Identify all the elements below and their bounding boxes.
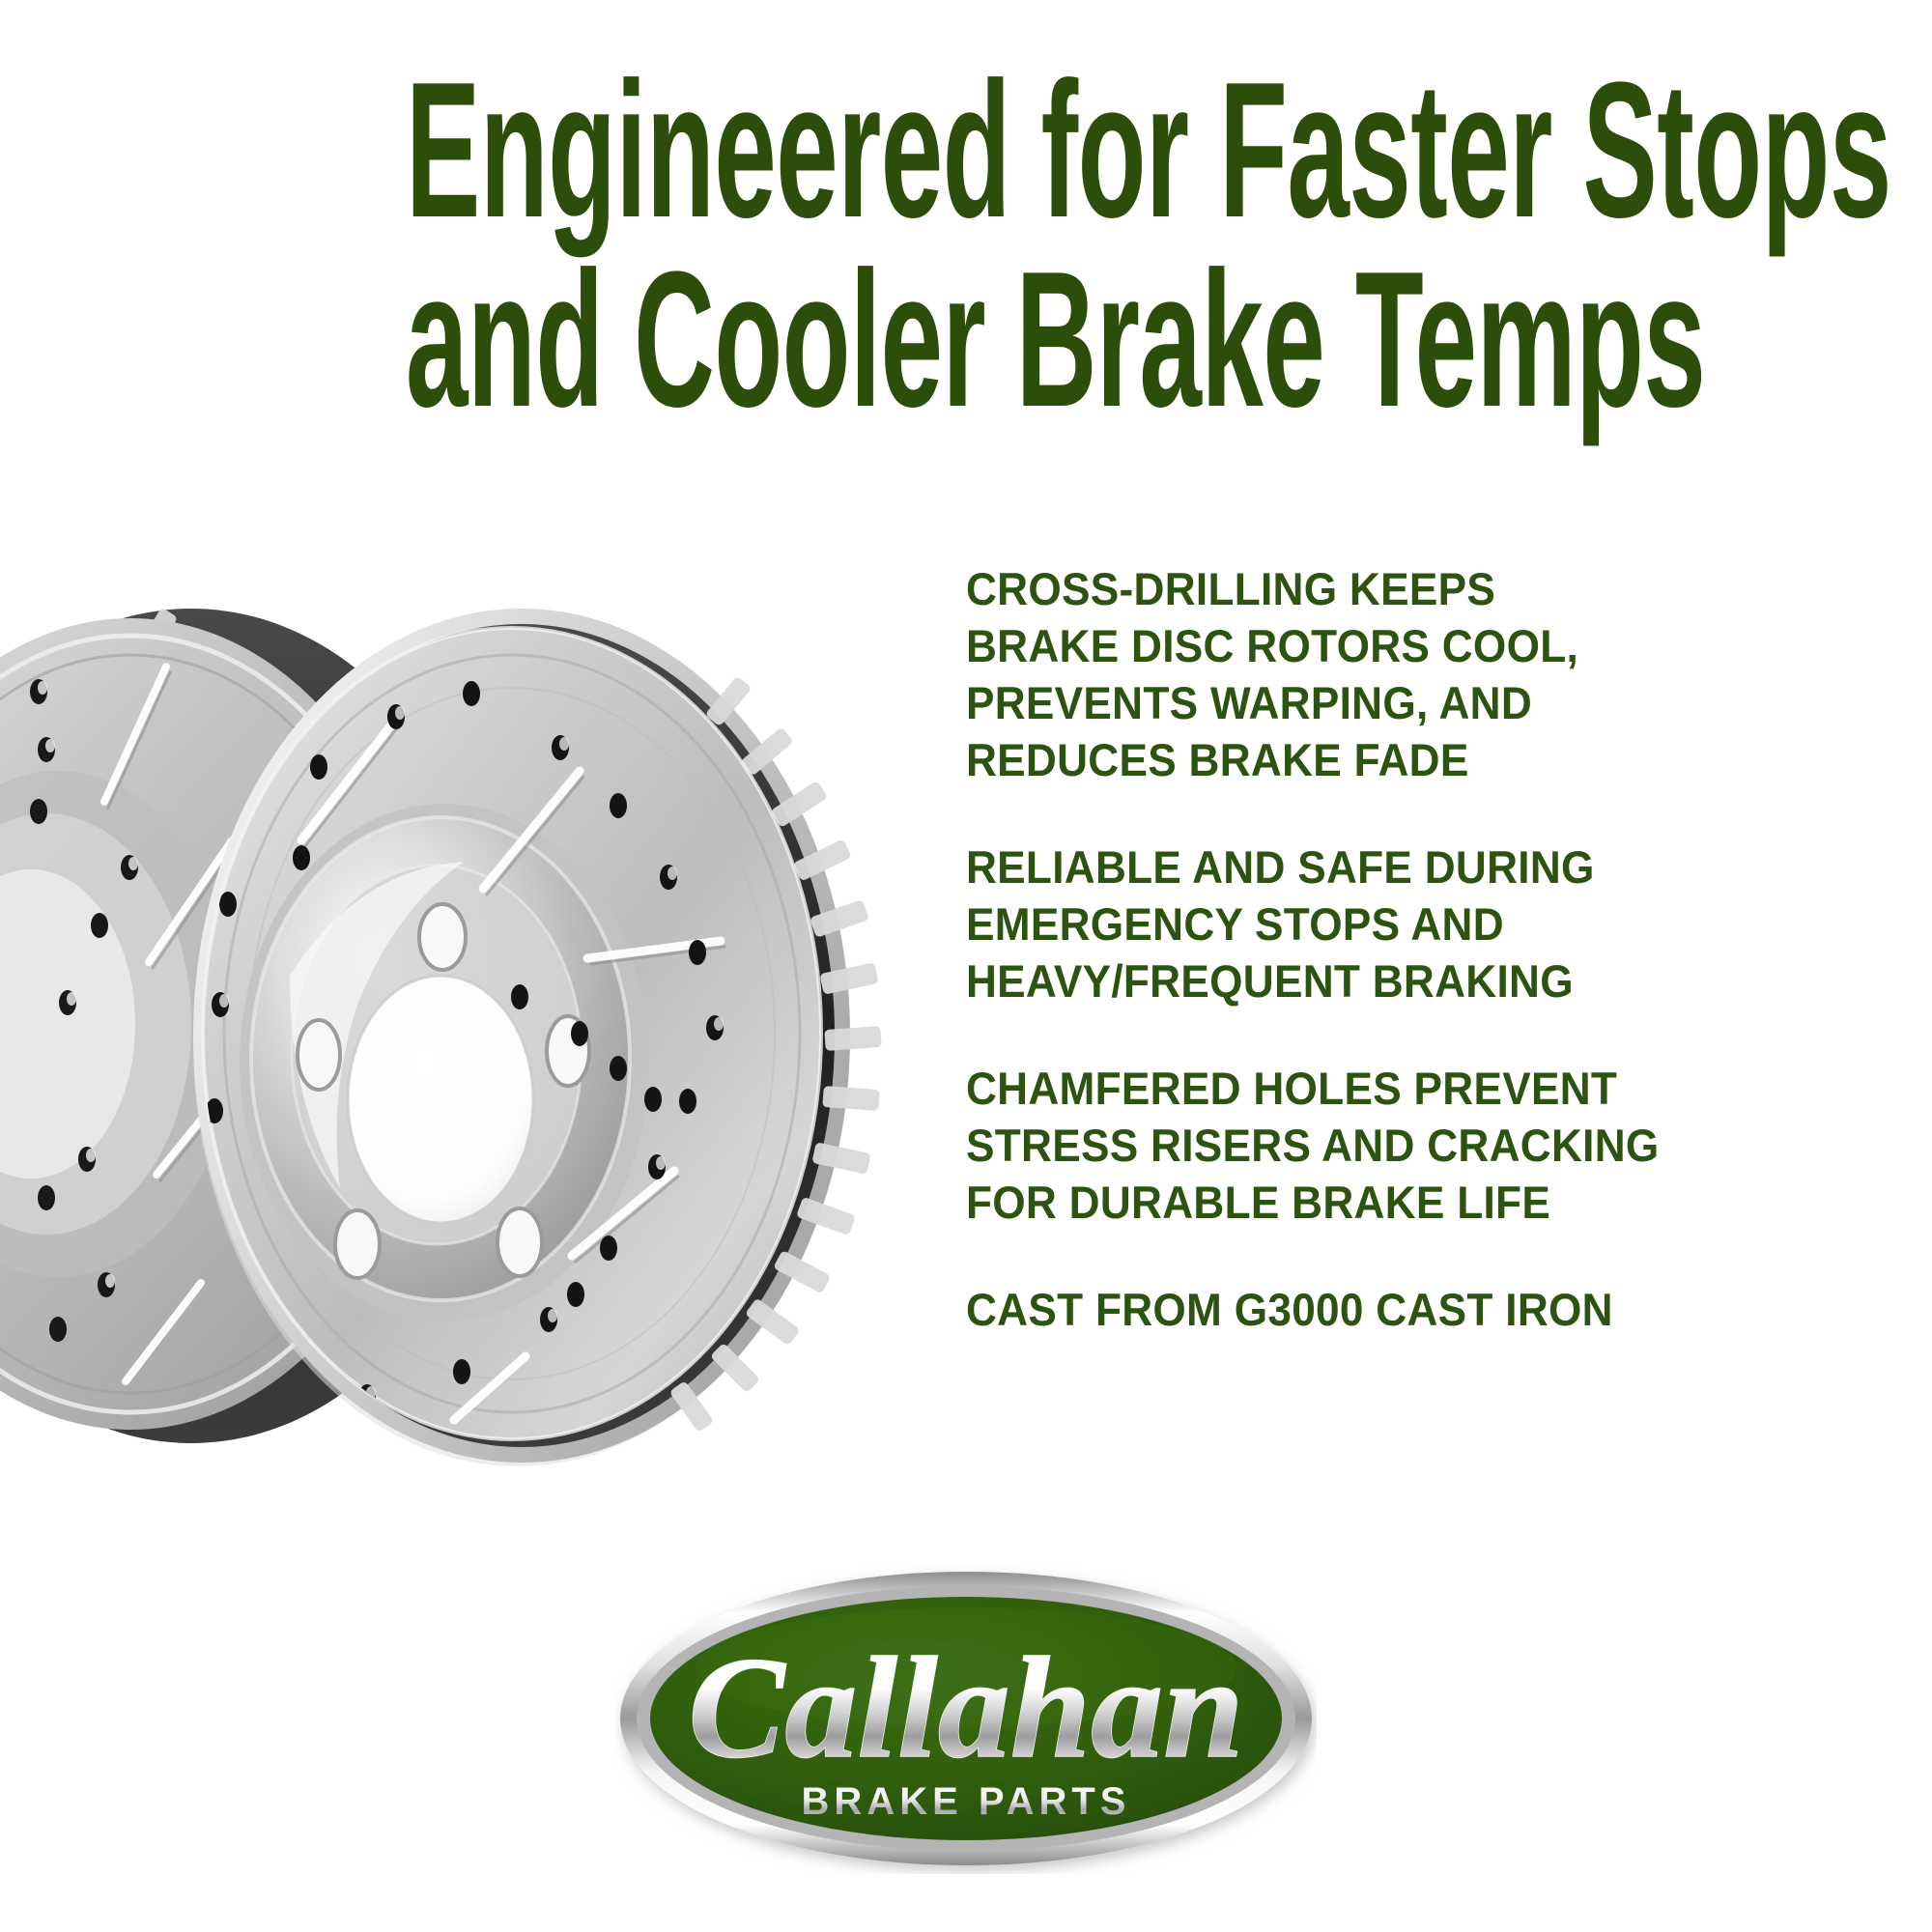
feature-block-cast-iron: CAST FROM G3000 CAST IRON (966, 1281, 1864, 1338)
feature-line: RELIABLE AND SAFE DURING (966, 838, 1810, 895)
product-infographic: Engineered for Faster Stops and Cooler B… (0, 0, 1932, 1932)
page-title: Engineered for Faster Stops and Cooler B… (0, 56, 1932, 435)
headline-line-2: and Cooler Brake Temps (406, 245, 1526, 435)
feature-line: CROSS-DRILLING KEEPS (966, 560, 1810, 617)
feature-block-cross-drilling: CROSS-DRILLING KEEPS BRAKE DISC ROTORS C… (966, 560, 1864, 788)
logo-brand-text: Callahan (688, 1628, 1243, 1788)
feature-block-chamfered-holes: CHAMFERED HOLES PREVENT STRESS RISERS AN… (966, 1060, 1864, 1231)
feature-line: HEAVY/FREQUENT BRAKING (966, 952, 1810, 1009)
feature-line: BRAKE DISC ROTORS COOL, (966, 617, 1810, 674)
feature-line: CHAMFERED HOLES PREVENT (966, 1060, 1810, 1117)
brand-logo: Callahan BRAKE PARTS (615, 1567, 1317, 1874)
feature-line: STRESS RISERS AND CRACKING (966, 1117, 1810, 1174)
feature-line: CAST FROM G3000 CAST IRON (966, 1281, 1810, 1338)
feature-list: CROSS-DRILLING KEEPS BRAKE DISC ROTORS C… (966, 560, 1864, 1338)
feature-line: EMERGENCY STOPS AND (966, 895, 1810, 952)
brake-rotor-product-photo (0, 522, 966, 1546)
feature-line: PREVENTS WARPING, AND (966, 674, 1810, 731)
feature-block-reliable-safe: RELIABLE AND SAFE DURING EMERGENCY STOPS… (966, 838, 1864, 1009)
front-rotor (193, 616, 882, 1466)
headline-line-1: Engineered for Faster Stops (406, 56, 1526, 245)
feature-line: REDUCES BRAKE FADE (966, 731, 1810, 788)
feature-line: FOR DURABLE BRAKE LIFE (966, 1174, 1810, 1231)
logo-tagline-text: BRAKE PARTS (802, 1780, 1131, 1823)
